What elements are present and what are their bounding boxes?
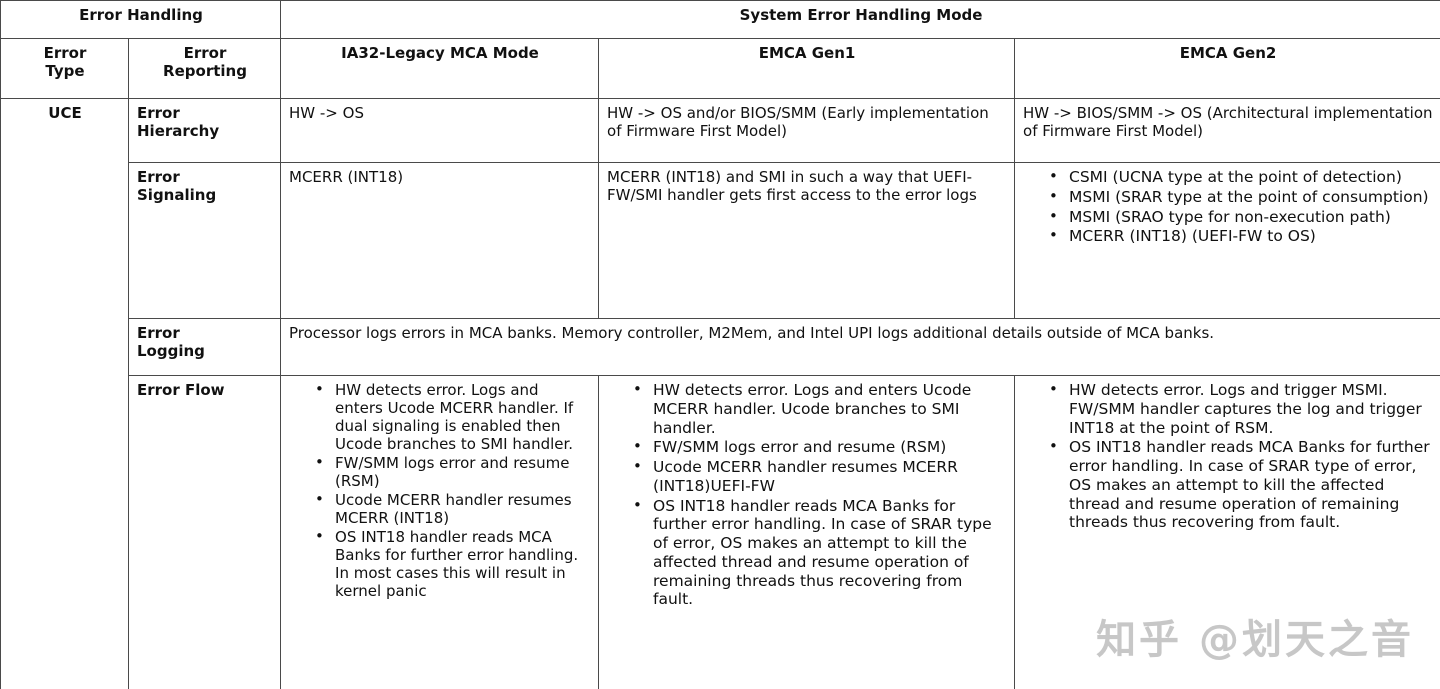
list-item: CSMI (UCNA type at the point of detectio… (1049, 168, 1433, 187)
table-header-row-columns: Error Type Error Reporting IA32-Legacy M… (1, 39, 1440, 99)
table-row: UCE Error Hierarchy HW -> OS HW -> OS an… (1, 99, 1440, 163)
list-item: OS INT18 handler reads MCA Banks for fur… (1049, 438, 1433, 532)
table-row: Error Logging Processor logs errors in M… (1, 319, 1440, 376)
row-label-error-logging-line2: Logging (137, 342, 205, 360)
row-label-error-hierarchy-line1: Error (137, 104, 180, 122)
row-label-error-logging: Error Logging (129, 319, 281, 376)
bullet-list-error-flow-ia32: HW detects error. Logs and enters Ucode … (289, 381, 591, 600)
column-header-error-reporting-line1: Error (184, 44, 227, 62)
cell-error-signaling-gen2: CSMI (UCNA type at the point of detectio… (1015, 163, 1440, 319)
header-error-handling: Error Handling (1, 1, 281, 39)
row-label-error-signaling-line1: Error (137, 168, 180, 186)
cell-error-flow-gen2: HW detects error. Logs and trigger MSMI.… (1015, 376, 1440, 689)
row-label-error-signaling: Error Signaling (129, 163, 281, 319)
error-handling-table-container: Error Handling System Error Handling Mod… (0, 0, 1440, 689)
cell-error-hierarchy-gen1: HW -> OS and/or BIOS/SMM (Early implemen… (599, 99, 1015, 163)
list-item: FW/SMM logs error and resume (RSM) (633, 438, 1007, 457)
cell-error-type-uce: UCE (1, 99, 129, 689)
column-header-emca-gen1: EMCA Gen1 (599, 39, 1015, 99)
row-label-error-flow: Error Flow (129, 376, 281, 689)
cell-error-flow-gen1: HW detects error. Logs and enters Ucode … (599, 376, 1015, 689)
table-header-row-top: Error Handling System Error Handling Mod… (1, 1, 1440, 39)
column-header-emca-gen2: EMCA Gen2 (1015, 39, 1440, 99)
cell-error-signaling-ia32: MCERR (INT18) (281, 163, 599, 319)
column-header-error-type: Error Type (1, 39, 129, 99)
cell-error-flow-ia32: HW detects error. Logs and enters Ucode … (281, 376, 599, 689)
cell-error-signaling-gen1: MCERR (INT18) and SMI in such a way that… (599, 163, 1015, 319)
bullet-list-error-flow-gen2: HW detects error. Logs and trigger MSMI.… (1023, 381, 1433, 532)
list-item: FW/SMM logs error and resume (RSM) (315, 454, 591, 490)
column-header-error-reporting-line2: Reporting (163, 62, 247, 80)
list-item: OS INT18 handler reads MCA Banks for fur… (315, 528, 591, 600)
header-system-error-handling-mode: System Error Handling Mode (281, 1, 1440, 39)
row-label-error-logging-line1: Error (137, 324, 180, 342)
cell-error-hierarchy-ia32: HW -> OS (281, 99, 599, 163)
cell-error-hierarchy-gen2: HW -> BIOS/SMM -> OS (Architectural impl… (1015, 99, 1440, 163)
list-item: HW detects error. Logs and enters Ucode … (315, 381, 591, 453)
column-header-error-type-line2: Type (45, 62, 84, 80)
column-header-error-reporting: Error Reporting (129, 39, 281, 99)
row-label-error-hierarchy: Error Hierarchy (129, 99, 281, 163)
list-item: HW detects error. Logs and trigger MSMI.… (1049, 381, 1433, 437)
list-item: HW detects error. Logs and enters Ucode … (633, 381, 1007, 437)
table-row: Error Flow HW detects error. Logs and en… (1, 376, 1440, 689)
list-item: OS INT18 handler reads MCA Banks for fur… (633, 497, 1007, 610)
list-item: Ucode MCERR handler resumes MCERR (INT18… (633, 458, 1007, 496)
error-handling-table: Error Handling System Error Handling Mod… (0, 0, 1440, 689)
bullet-list-error-signaling-gen2: CSMI (UCNA type at the point of detectio… (1023, 168, 1433, 246)
list-item: Ucode MCERR handler resumes MCERR (INT18… (315, 491, 591, 527)
list-item: MCERR (INT18) (UEFI-FW to OS) (1049, 227, 1433, 246)
table-row: Error Signaling MCERR (INT18) MCERR (INT… (1, 163, 1440, 319)
list-item: MSMI (SRAO type for non-execution path) (1049, 208, 1433, 227)
row-label-error-hierarchy-line2: Hierarchy (137, 122, 219, 140)
list-item: MSMI (SRAR type at the point of consumpt… (1049, 188, 1433, 207)
column-header-error-type-line1: Error (44, 44, 87, 62)
cell-error-logging-all-modes: Processor logs errors in MCA banks. Memo… (281, 319, 1440, 376)
bullet-list-error-flow-gen1: HW detects error. Logs and enters Ucode … (607, 381, 1007, 609)
row-label-error-signaling-line2: Signaling (137, 186, 216, 204)
column-header-ia32-legacy-mca-mode: IA32-Legacy MCA Mode (281, 39, 599, 99)
